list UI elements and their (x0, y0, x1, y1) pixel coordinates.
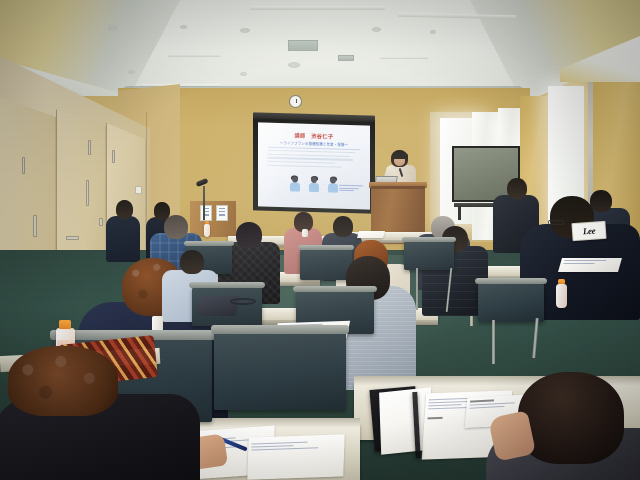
board-leg-left (458, 206, 461, 220)
chair-rim-foreground-left-2 (211, 325, 349, 334)
paper-sign-1 (200, 205, 212, 221)
sprinkler-icon-5 (180, 25, 187, 29)
water-bottle-cap-foreground-left (59, 320, 71, 329)
sprinkler-icon-7 (240, 72, 247, 76)
chair-row2-3[interactable] (478, 282, 544, 322)
paper-cup-row2[interactable] (152, 316, 163, 331)
handout-row3-right[interactable] (558, 258, 622, 272)
handout-foreground-left-2[interactable] (247, 434, 344, 479)
ceiling-vent-icon (288, 40, 318, 51)
door-handle-5[interactable] (86, 180, 89, 206)
door-handle-4[interactable] (88, 140, 91, 155)
water-bottle-row2-right[interactable] (556, 284, 567, 308)
door-handle-6[interactable] (99, 218, 103, 226)
bag-strap (230, 298, 256, 305)
paper-cup-back[interactable] (302, 229, 308, 237)
chair-mid-3[interactable] (404, 240, 454, 270)
chair-rim-mid-1 (184, 241, 234, 246)
chair-rim-row2-3 (475, 278, 547, 284)
glasses-icon (548, 220, 564, 225)
sprinkler-icon-2 (240, 28, 250, 33)
screen-frame: 講師 渋谷仁子 ～ライフプランの基礎知識と年金・保険～ · (253, 118, 375, 213)
chair-mid-2[interactable] (300, 248, 352, 280)
screen-glare (258, 122, 370, 209)
sprinkler-icon-1 (108, 26, 117, 31)
ceiling (0, 0, 640, 96)
curly-hair-texture-2 (8, 346, 118, 416)
presenter-fringe (392, 152, 408, 159)
sprinkler-icon-4 (430, 30, 436, 34)
ceiling-light-4 (380, 56, 428, 59)
ceiling-vent-small (338, 55, 354, 61)
chair-rim-row2-1 (189, 282, 265, 288)
projection-screen[interactable]: 講師 渋谷仁子 ～ライフプランの基礎知識と年金・保険～ · (253, 118, 375, 213)
ceiling-light-3 (168, 54, 220, 57)
paper-sign-2 (216, 205, 228, 221)
door-handle-8[interactable] (112, 150, 115, 163)
chair-foreground-left-2[interactable] (214, 330, 346, 410)
side-table (190, 201, 236, 237)
lee-logo-text: Lee (583, 226, 596, 236)
door-handle-7[interactable] (66, 236, 79, 240)
speaker-icon-ceiling (288, 62, 300, 68)
water-bottle-cap-back (205, 221, 209, 224)
sprinkler-icon-6 (128, 70, 135, 74)
wall-clock-icon (289, 95, 302, 108)
water-bottle-cap-row2-right (558, 279, 565, 284)
ceiling-light-1 (250, 6, 385, 10)
water-bottle-back[interactable] (204, 224, 210, 237)
wall-switch-plate[interactable] (135, 186, 142, 194)
lee-logo-patch: Lee (571, 221, 606, 241)
chair-rim-mid-3 (402, 237, 456, 242)
handout-back-right[interactable] (357, 231, 385, 238)
chair-leg-row2-3 (492, 320, 495, 364)
screen-surface: 講師 渋谷仁子 ～ライフプランの基礎知識と年金・保険～ · (258, 122, 370, 209)
chair-rim-mid-2 (298, 245, 354, 250)
door-handle-1[interactable] (22, 157, 25, 174)
microphone-stand-pole (203, 186, 205, 220)
chair-rim-row2-2 (293, 286, 377, 292)
chair-leg-mid-3 (416, 268, 418, 310)
sprinkler-icon-3 (372, 27, 381, 32)
photo-canvas: 講師 渋谷仁子 ～ライフプランの基礎知識と年金・保険～ · (0, 0, 640, 480)
door-handle-2[interactable] (33, 215, 37, 237)
